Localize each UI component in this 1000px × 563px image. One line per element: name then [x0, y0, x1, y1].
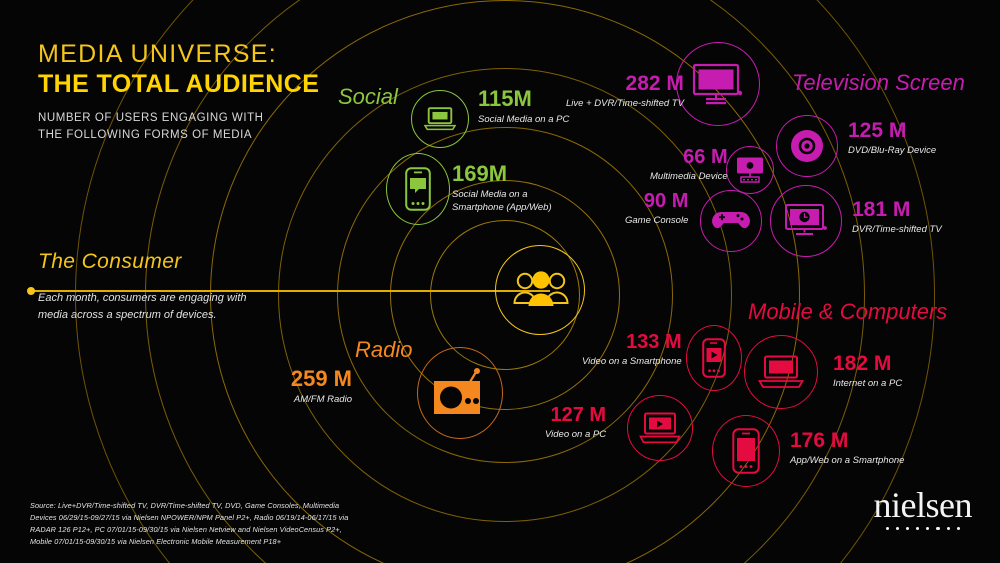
nielsen-wordmark: nielsen [874, 487, 972, 523]
value-appweb-smartphone: 176 M [790, 429, 848, 452]
node-game-console[interactable] [700, 190, 762, 252]
value-dvr-tv: 181 M [852, 198, 910, 221]
label-multimedia-device: 66 M Multimedia Device [650, 147, 728, 184]
node-video-smartphone[interactable] [686, 325, 742, 391]
television-icon [692, 63, 744, 105]
label-dvr-tv: 181 M DVR/Time-shifted TV [852, 199, 942, 237]
source-line-3: RADAR 126 P12+, PC 07/01/15-09/30/15 via… [30, 524, 360, 536]
node-amfm-radio[interactable] [417, 347, 503, 439]
label-game-console: 90 M Game Console [625, 191, 688, 228]
node-social-smartphone[interactable] [386, 153, 450, 225]
node-dvr-tv[interactable] [770, 185, 842, 257]
people-icon [513, 271, 569, 311]
caption-social-pc: Social Media on a PC [478, 114, 569, 127]
laptop-icon [424, 106, 456, 132]
source-line-4: Mobile 07/01/15-09/30/15 via Nielsen Ele… [30, 536, 360, 548]
node-dvd-bluray[interactable] [776, 115, 838, 177]
page-title-line1: MEDIA UNIVERSE: [38, 40, 368, 68]
node-social-pc[interactable] [411, 90, 469, 148]
caption-dvd-bluray: DVD/Blu-Ray Device [848, 145, 936, 158]
value-internet-pc: 182 M [833, 352, 891, 375]
smartphone-chat-icon [405, 167, 431, 211]
caption-internet-pc: Internet on a PC [833, 378, 902, 391]
dvr-monitor-icon [784, 203, 828, 239]
laptop-icon [758, 355, 804, 389]
consumer-hub [495, 245, 585, 335]
node-appweb-smartphone[interactable] [712, 415, 780, 487]
smartphone-play-icon [702, 338, 726, 378]
node-video-pc[interactable] [627, 395, 693, 461]
value-dvd-bluray: 125 M [848, 119, 906, 142]
caption-social-smartphone: Social Media on a Smartphone (App/Web) [452, 189, 562, 215]
label-social-pc: 115M Social Media on a PC [478, 88, 569, 127]
value-live-dvr-tv: 282 M [626, 72, 684, 95]
value-social-pc: 115M [478, 86, 532, 111]
consumer-description: Each month, consumers are engaging with … [38, 290, 253, 323]
node-live-dvr-tv[interactable] [676, 42, 760, 126]
smartphone-icon [732, 428, 760, 474]
caption-video-pc: Video on a PC [545, 429, 606, 442]
multimedia-device-icon [735, 156, 765, 184]
category-label-social: Social [338, 84, 398, 110]
value-amfm-radio: 259 M [291, 366, 352, 391]
label-video-smartphone: 133 M Video on a Smartphone [582, 332, 682, 369]
laptop-play-icon [639, 412, 681, 444]
gamepad-icon [712, 209, 750, 233]
label-amfm-radio: 259 M AM/FM Radio [252, 368, 352, 407]
category-label-mobile: Mobile & Computers [748, 299, 947, 325]
node-multimedia-device[interactable] [726, 146, 774, 194]
caption-video-smartphone: Video on a Smartphone [582, 356, 682, 369]
value-multimedia-device: 66 M [683, 146, 727, 168]
consumer-heading: The Consumer [38, 250, 182, 274]
caption-multimedia-device: Multimedia Device [650, 171, 728, 184]
caption-game-console: Game Console [625, 215, 688, 228]
category-label-radio: Radio [355, 337, 412, 363]
label-dvd-bluray: 125 M DVD/Blu-Ray Device [848, 120, 936, 158]
consumer-pointer-dot [27, 287, 35, 295]
caption-dvr-tv: DVR/Time-shifted TV [852, 224, 942, 237]
value-game-console: 90 M [644, 190, 688, 212]
label-video-pc: 127 M Video on a PC [545, 405, 606, 442]
page-subtitle-line2: THE FOLLOWING FORMS OF MEDIA [38, 129, 252, 141]
infographic-canvas: MEDIA UNIVERSE: THE TOTAL AUDIENCE NUMBE… [0, 0, 1000, 563]
radio-icon [432, 368, 488, 418]
label-social-smartphone: 169M Social Media on a Smartphone (App/W… [452, 163, 582, 215]
label-internet-pc: 182 M Internet on a PC [833, 353, 902, 391]
label-live-dvr-tv: 282 M Live + DVR/Time-shifted TV [566, 73, 684, 111]
nielsen-logo-dots [874, 527, 972, 530]
caption-appweb-smartphone: App/Web on a Smartphone [790, 455, 904, 468]
title-block: MEDIA UNIVERSE: THE TOTAL AUDIENCE NUMBE… [38, 40, 368, 144]
category-label-television: Television Screen [792, 70, 965, 96]
node-internet-pc[interactable] [744, 335, 818, 409]
label-appweb-smartphone: 176 M App/Web on a Smartphone [790, 430, 904, 468]
source-note: Source: Live+DVR/Time-shifted TV, DVR/Ti… [30, 500, 360, 548]
caption-amfm-radio: AM/FM Radio [252, 394, 352, 407]
caption-live-dvr-tv: Live + DVR/Time-shifted TV [566, 98, 684, 111]
nielsen-logo: nielsen [874, 487, 972, 530]
source-line-1: Source: Live+DVR/Time-shifted TV, DVR/Ti… [30, 500, 360, 512]
value-video-smartphone: 133 M [626, 331, 682, 353]
page-subtitle-line1: NUMBER OF USERS ENGAGING WITH [38, 112, 264, 124]
source-line-2: Devices 06/29/15-09/27/15 via Nielsen NP… [30, 512, 360, 524]
value-social-smartphone: 169M [452, 161, 507, 186]
disc-icon [789, 128, 825, 164]
value-video-pc: 127 M [551, 404, 607, 426]
page-title-line2: THE TOTAL AUDIENCE [38, 70, 368, 99]
